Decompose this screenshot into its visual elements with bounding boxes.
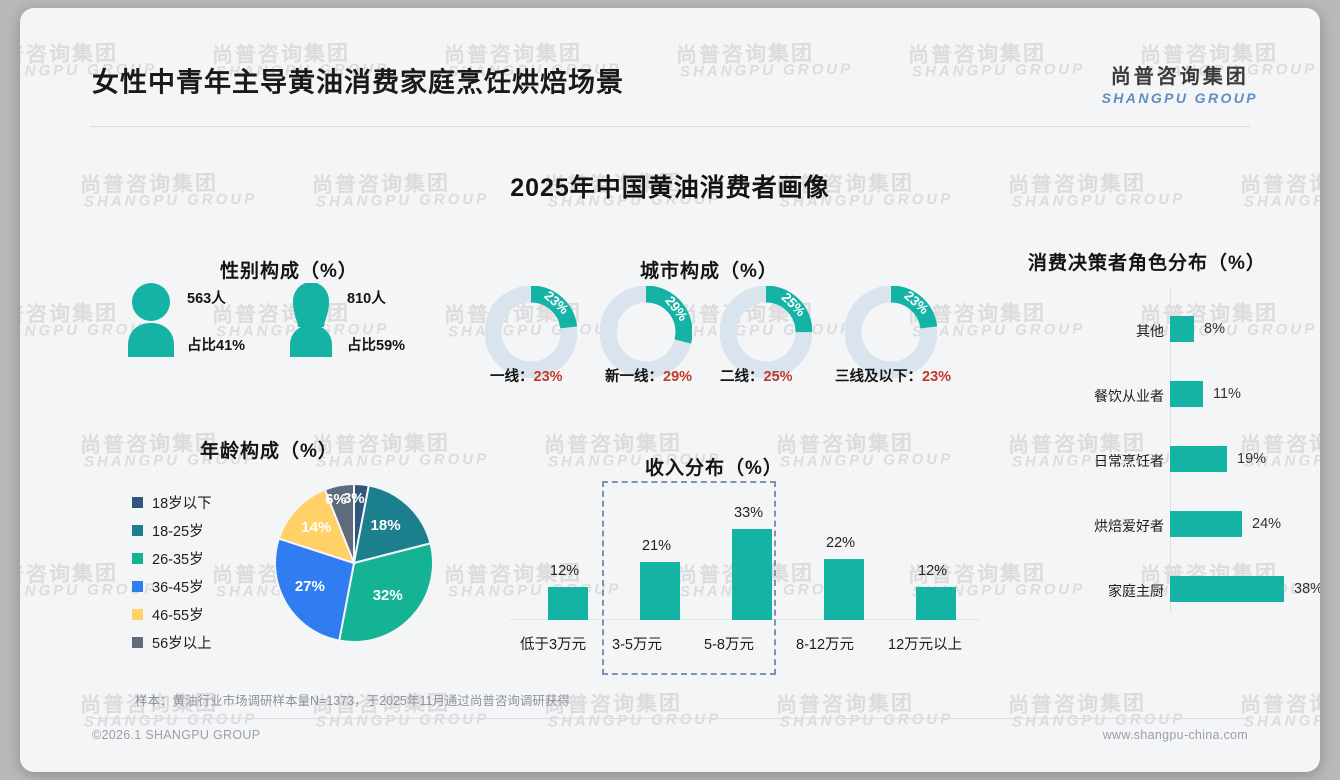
gender-male-count: 563人 — [187, 287, 245, 308]
age-section-title: 年龄构成（%） — [200, 436, 338, 463]
legend-swatch — [132, 609, 143, 620]
legend-swatch — [132, 581, 143, 592]
income-section-title: 收入分布（%） — [645, 453, 783, 480]
legend-label: 56岁以上 — [152, 632, 212, 653]
page-title: 女性中青年主导黄油消费家庭烹饪烘焙场景 — [92, 61, 624, 100]
pie-slice-label: 32% — [373, 587, 403, 604]
watermark-en: SHANGPU GROUP — [316, 450, 489, 470]
logo-en-text: SHANGPU GROUP — [1102, 89, 1258, 107]
role-bar-label: 烘焙爱好者 — [1094, 516, 1164, 536]
pie-slice-label: 18% — [371, 517, 401, 534]
pie-slice-label: 14% — [301, 519, 331, 536]
income-bar-chart: 12%低于3万元21%3-5万元33%5-8万元22%8-12万元12%12万元… — [510, 493, 980, 668]
footer-divider — [90, 718, 1250, 719]
sample-note: 样本：黄油行业市场调研样本量N=1373，于2025年11月通过尚普咨询调研获得 — [135, 690, 570, 709]
legend-label: 26-35岁 — [152, 548, 204, 569]
brand-logo: 尚普咨询集团 SHANGPU GROUP — [1102, 66, 1258, 107]
role-bar — [1170, 316, 1194, 342]
logo-cn-text: 尚普咨询集团 — [1102, 66, 1258, 89]
legend-swatch — [132, 497, 143, 508]
role-bar-chart: 其他8%餐饮从业者11%日常烹饪者19%烘焙爱好者24%家庭主厨38% — [1040, 288, 1290, 613]
legend-item: 18-25岁 — [132, 516, 212, 544]
income-bar-category: 8-12万元 — [796, 633, 854, 654]
role-bar-label: 家庭主厨 — [1108, 581, 1164, 601]
legend-swatch — [132, 553, 143, 564]
legend-item: 26-35岁 — [132, 544, 212, 572]
watermark-cn: 尚普咨询集团 — [1008, 687, 1147, 719]
role-bar-value: 38% — [1294, 581, 1320, 597]
watermark-en: SHANGPU GROUP — [780, 450, 953, 470]
legend-swatch — [132, 525, 143, 536]
role-bar — [1170, 576, 1284, 602]
watermark-en: SHANGPU GROUP — [548, 710, 721, 730]
watermark-cn: 尚普咨询集团 — [20, 557, 118, 589]
legend-item: 56岁以上 — [132, 628, 212, 656]
income-bar-value: 12% — [550, 563, 579, 579]
watermark-en: SHANGPU GROUP — [1244, 710, 1320, 730]
report-card: 尚普咨询集团SHANGPU GROUP尚普咨询集团SHANGPU GROUP尚普… — [20, 8, 1320, 772]
header: 女性中青年主导黄油消费家庭烹饪烘焙场景 尚普咨询集团 SHANGPU GROUP — [20, 8, 1320, 120]
donut-caption: 一线：23% — [490, 365, 563, 386]
role-bar-value: 11% — [1213, 386, 1241, 402]
gender-male-text: 563人 占比41% — [187, 287, 245, 355]
legend-item: 36-45岁 — [132, 572, 212, 600]
role-bar-label: 餐饮从业者 — [1094, 386, 1164, 406]
subtitle: 2025年中国黄油消费者画像 — [20, 168, 1320, 204]
donut-caption: 三线及以下：23% — [835, 365, 951, 386]
footer-website: www.shangpu-china.com — [1103, 728, 1248, 742]
pie-slice-label: 6% — [325, 491, 347, 508]
header-divider — [90, 126, 1250, 127]
gender-female-count: 810人 — [347, 287, 405, 308]
role-section-title: 消费决策者角色分布（%） — [1028, 248, 1266, 275]
role-bar-value: 19% — [1237, 451, 1266, 467]
legend-swatch — [132, 637, 143, 648]
role-bar — [1170, 446, 1227, 472]
income-bar — [916, 587, 956, 620]
income-bar-category: 12万元以上 — [888, 633, 962, 654]
gender-item-male: 563人 占比41% — [125, 283, 285, 363]
income-bar-value: 22% — [826, 535, 855, 551]
female-icon — [285, 283, 337, 357]
watermark-cn: 尚普咨询集团 — [776, 427, 915, 459]
income-bar-value: 12% — [918, 563, 947, 579]
pie-slice-label: 27% — [295, 578, 325, 595]
income-bar — [548, 587, 588, 620]
role-bar — [1170, 511, 1242, 537]
age-pie-chart: 3%18%32%27%14%6% — [275, 484, 433, 642]
role-bar-label: 其他 — [1136, 321, 1164, 341]
role-bar-value: 8% — [1204, 321, 1225, 337]
legend-label: 18-25岁 — [152, 520, 204, 541]
watermark-cn: 尚普咨询集团 — [776, 687, 915, 719]
role-bar — [1170, 381, 1203, 407]
watermark-cn: 尚普咨询集团 — [1240, 687, 1320, 719]
income-bar — [824, 559, 864, 620]
male-icon — [125, 283, 177, 357]
gender-female-share: 占比59% — [347, 334, 405, 355]
gender-section-title: 性别构成（%） — [220, 256, 358, 283]
role-bar-value: 24% — [1252, 516, 1281, 532]
legend-label: 18岁以下 — [152, 492, 212, 513]
gender-chart: 563人 占比41% 810人 占比59% — [125, 283, 445, 363]
watermark-en: SHANGPU GROUP — [780, 710, 953, 730]
footer-copyright: ©2026.1 SHANGPU GROUP — [92, 728, 260, 742]
role-bar-label: 日常烹饪者 — [1094, 451, 1164, 471]
donut-caption: 二线：25% — [720, 365, 793, 386]
watermark-en: SHANGPU GROUP — [316, 710, 489, 730]
donut-caption: 新一线：29% — [605, 365, 692, 386]
gender-female-text: 810人 占比59% — [347, 287, 405, 355]
gender-male-share: 占比41% — [187, 334, 245, 355]
infographic-page: 尚普咨询集团SHANGPU GROUP尚普咨询集团SHANGPU GROUP尚普… — [0, 0, 1340, 780]
income-bar-category: 低于3万元 — [520, 633, 586, 654]
legend-item: 18岁以下 — [132, 488, 212, 516]
gender-item-female: 810人 占比59% — [285, 283, 445, 363]
watermark-cn: 尚普咨询集团 — [80, 427, 219, 459]
income-highlight-box — [602, 481, 776, 675]
watermark-cn: 尚普咨询集团 — [20, 297, 118, 329]
legend-label: 36-45岁 — [152, 576, 204, 597]
city-section-title: 城市构成（%） — [640, 256, 778, 283]
age-legend: 18岁以下18-25岁26-35岁36-45岁46-55岁56岁以上 — [132, 488, 212, 656]
legend-label: 46-55岁 — [152, 604, 204, 625]
legend-item: 46-55岁 — [132, 600, 212, 628]
